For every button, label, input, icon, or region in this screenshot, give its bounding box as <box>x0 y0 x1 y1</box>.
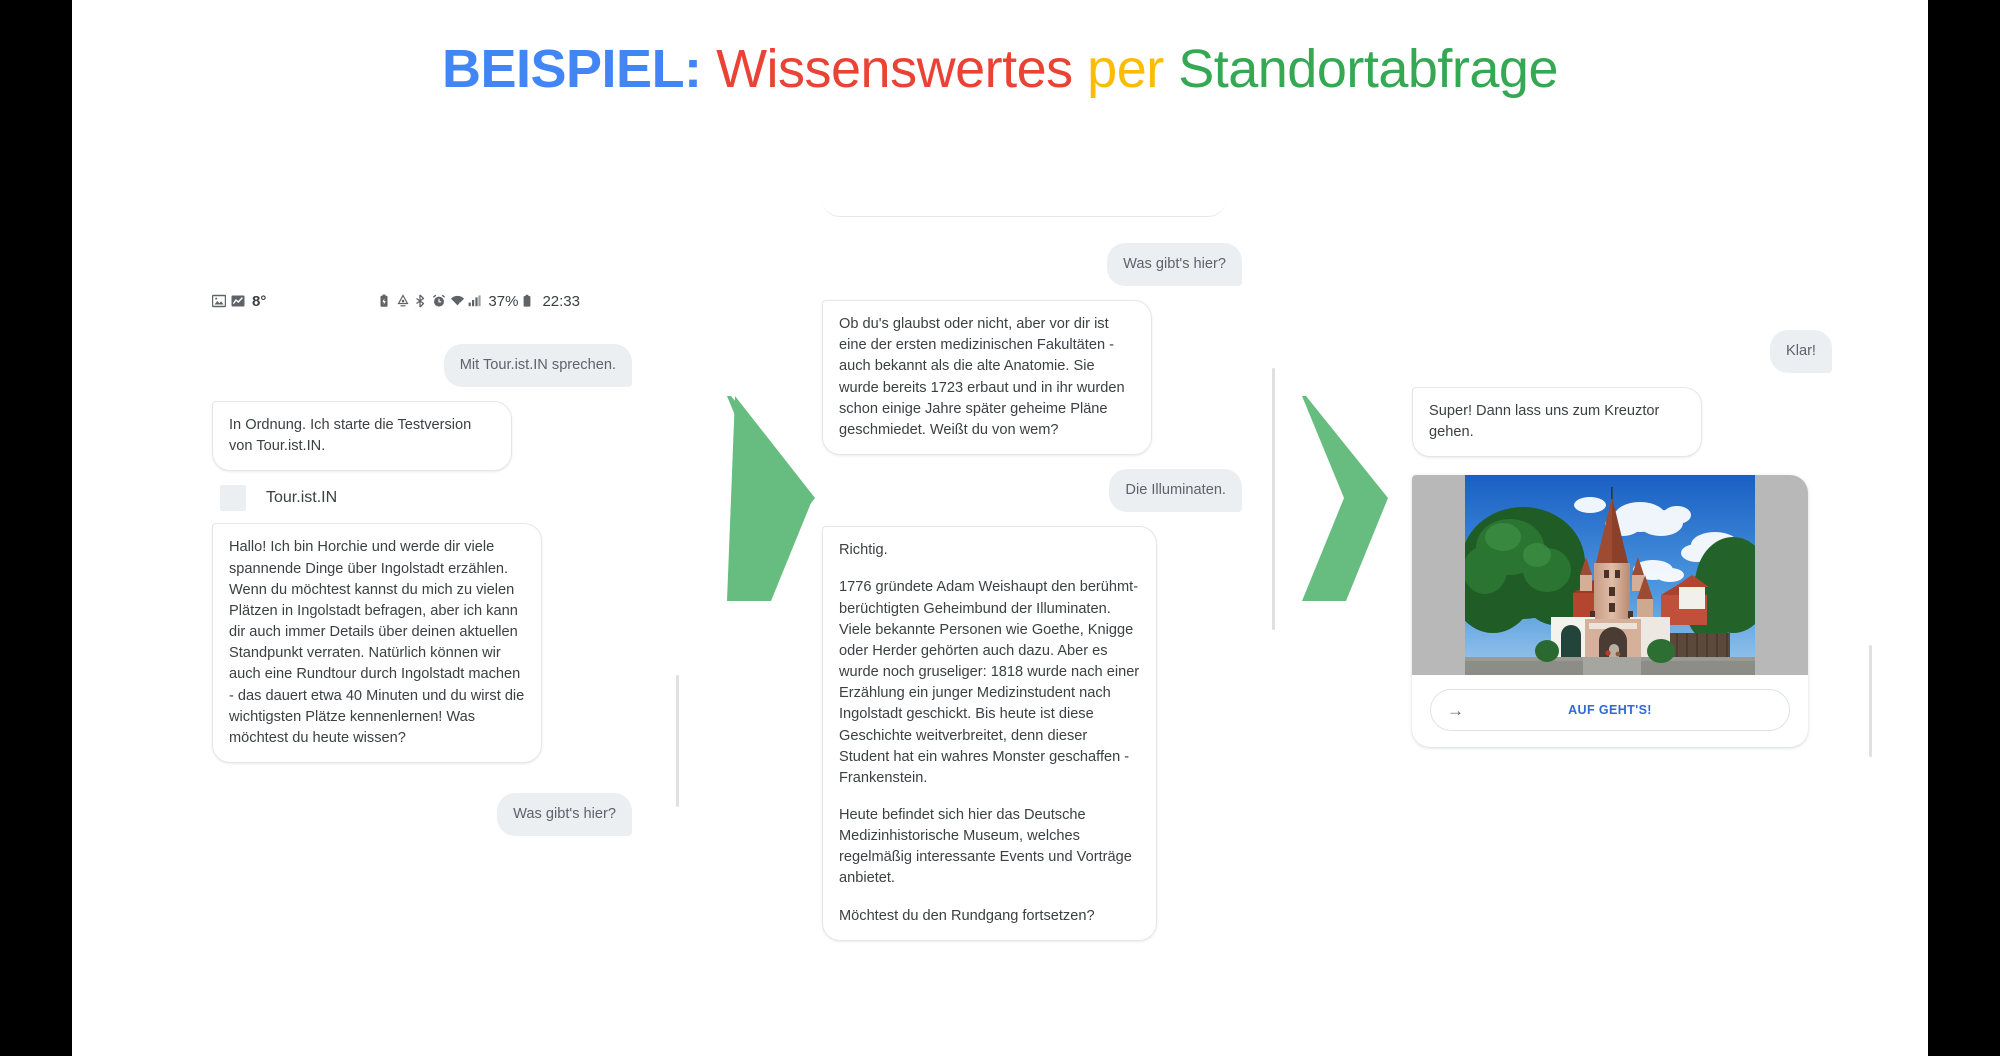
message-row: Hallo! Ich bin Horchie und werde dir vie… <box>212 523 632 763</box>
partial-bubble-top <box>822 195 1226 217</box>
place-card[interactable]: → AUF GEHT'S! <box>1412 475 1808 747</box>
title-part-per: per <box>1087 39 1164 99</box>
bot-header: Tour.ist.IN <box>220 485 632 511</box>
scrollbar-middle[interactable] <box>1272 368 1275 630</box>
page-title: BEISPIEL: Wissenswertes per Standortabfr… <box>72 38 1928 100</box>
chart-icon <box>231 294 245 308</box>
battery-percent-label: 37% <box>488 293 518 310</box>
bot-message-bubble: Super! Dann lass uns zum Kreuztor gehen. <box>1412 387 1702 457</box>
card-action-area: → AUF GEHT'S! <box>1412 675 1808 747</box>
wifi-icon <box>450 294 464 308</box>
battery-icon <box>522 294 536 308</box>
title-part-standortabfrage: Standortabfrage <box>1178 39 1558 99</box>
title-part-beispiel: BEISPIEL: <box>442 39 702 99</box>
status-bar-left: 8° <box>212 293 266 310</box>
message-row: Was gibt's hier? <box>212 793 632 836</box>
auf-gehts-label: AUF GEHT'S! <box>1431 703 1789 717</box>
bot-long-p2: 1776 gründete Adam Weishaupt den berühmt… <box>839 577 1140 789</box>
clock-label: 22:33 <box>542 293 580 310</box>
bot-name-label: Tour.ist.IN <box>266 489 337 507</box>
user-message-bubble: Mit Tour.ist.IN sprechen. <box>444 344 632 387</box>
user-message-bubble: Was gibt's hier? <box>1107 243 1242 286</box>
avatar <box>220 485 246 511</box>
data-saver-icon <box>396 294 410 308</box>
kreuztor-photo <box>1412 475 1808 675</box>
scrollbar-right[interactable] <box>1869 645 1872 757</box>
alarm-icon <box>432 294 446 308</box>
status-bar: 8° 3 <box>212 290 582 312</box>
slide-canvas: BEISPIEL: Wissenswertes per Standortabfr… <box>72 0 1928 1056</box>
battery-saver-icon <box>378 294 392 308</box>
title-part-wissenswertes: Wissenswertes <box>716 39 1073 99</box>
message-row: Mit Tour.ist.IN sprechen. <box>212 344 632 387</box>
signal-icon <box>468 294 482 308</box>
bot-long-p1: Richtig. <box>839 540 1140 561</box>
screen-left: 8° 3 <box>212 290 632 850</box>
message-row: Richtig. 1776 gründete Adam Weishaupt de… <box>822 526 1242 941</box>
screen-right: Klar! Super! Dann lass uns zum Kreuztor … <box>1412 330 1832 747</box>
message-row: Die Illuminaten. <box>822 469 1242 512</box>
message-row: In Ordnung. Ich starte die Testversion v… <box>212 401 632 471</box>
message-row: Super! Dann lass uns zum Kreuztor gehen. <box>1412 387 1832 457</box>
status-bar-right: 37% 22:33 <box>378 290 580 312</box>
message-row: Was gibt's hier? <box>822 243 1242 286</box>
bot-message-bubble: In Ordnung. Ich starte die Testversion v… <box>212 401 512 471</box>
photo-icon <box>212 294 226 308</box>
user-message-bubble: Klar! <box>1770 330 1832 373</box>
bluetooth-icon <box>414 294 428 308</box>
user-message-bubble: Was gibt's hier? <box>497 793 632 836</box>
auf-gehts-button[interactable]: → AUF GEHT'S! <box>1430 689 1790 731</box>
message-row: Klar! <box>1412 330 1832 373</box>
chevron-right-icon-2 <box>1302 396 1392 606</box>
bot-long-p4: Möchtest du den Rundgang fortsetzen? <box>839 906 1140 927</box>
bot-message-bubble: Ob du's glaubst oder nicht, aber vor dir… <box>822 300 1152 455</box>
chevron-right-icon-1 <box>727 396 817 606</box>
scrollbar-left[interactable] <box>676 675 679 807</box>
screen-middle: Was gibt's hier? Ob du's glaubst oder ni… <box>822 195 1242 955</box>
user-message-bubble: Die Illuminaten. <box>1109 469 1242 512</box>
temperature-label: 8° <box>252 293 266 310</box>
message-row: Ob du's glaubst oder nicht, aber vor dir… <box>822 300 1242 455</box>
bot-long-bubble: Richtig. 1776 gründete Adam Weishaupt de… <box>822 526 1157 941</box>
bot-long-p3: Heute befindet sich hier das Deutsche Me… <box>839 805 1140 890</box>
bot-intro-bubble: Hallo! Ich bin Horchie und werde dir vie… <box>212 523 542 763</box>
